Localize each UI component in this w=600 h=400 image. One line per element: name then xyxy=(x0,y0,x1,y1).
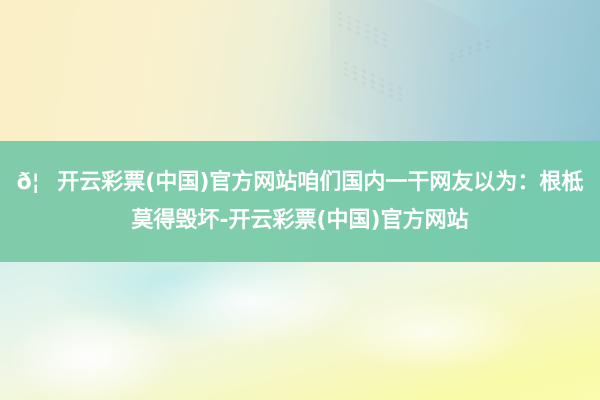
background-architecture-photo xyxy=(0,0,600,141)
background-sky-photo xyxy=(0,262,600,400)
building-silhouettes xyxy=(300,0,600,141)
title-band: ð¦开云彩票(中国)官方网站咱们国内一干网友以为：根柢莫得毁坏-开云彩票(中国… xyxy=(0,141,600,262)
promo-banner: ð¦开云彩票(中国)官方网站咱们国内一干网友以为：根柢莫得毁坏-开云彩票(中国… xyxy=(0,0,600,400)
banner-title: ð¦开云彩票(中国)官方网站咱们国内一干网友以为：根柢莫得毁坏-开云彩票(中国… xyxy=(0,164,600,240)
